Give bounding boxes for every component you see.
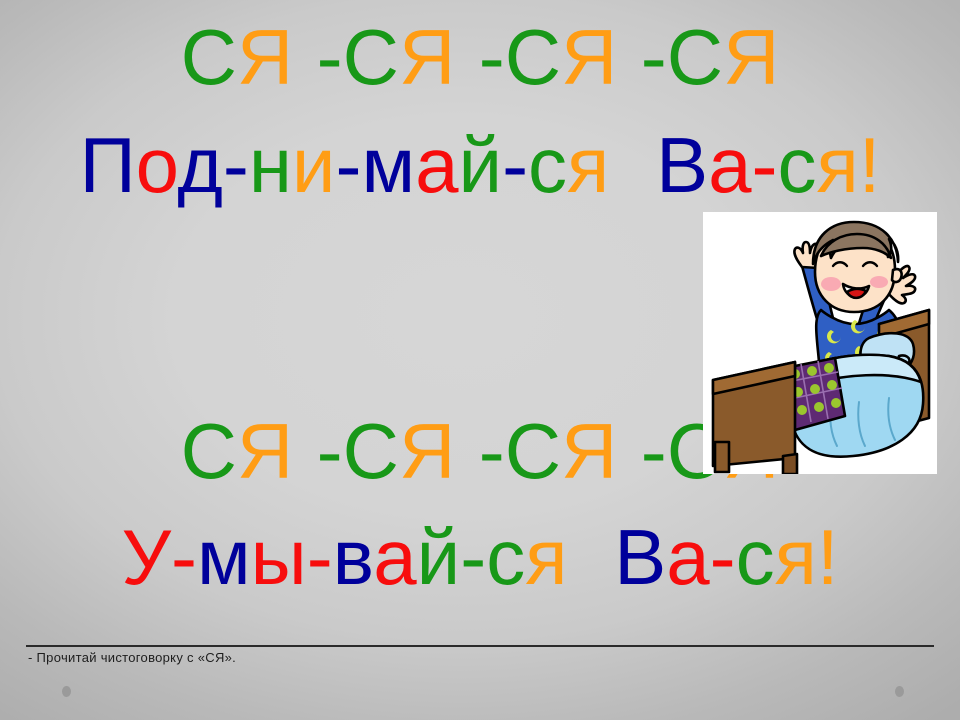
colored-glyph: ! (817, 513, 839, 601)
colored-glyph: Я (237, 407, 293, 495)
colored-glyph: й (458, 121, 502, 209)
colored-glyph: С (343, 13, 399, 101)
phrase-line-umyvaysya-vasya: У-мы-вай-сяВа-ся! (0, 518, 960, 596)
colored-glyph: - (317, 407, 343, 495)
colored-glyph: - (752, 121, 778, 209)
colored-glyph: - (307, 513, 333, 601)
boy-in-bed-illustration (703, 212, 937, 474)
colored-glyph: о (136, 121, 178, 209)
colored-glyph: С (181, 13, 237, 101)
colored-glyph: - (479, 13, 505, 101)
colored-glyph: - (317, 13, 343, 101)
colored-glyph: Я (723, 13, 779, 101)
colored-glyph: ! (859, 121, 881, 209)
colored-glyph: Я (561, 407, 617, 495)
colored-glyph: м (361, 121, 415, 209)
colored-glyph: а (373, 513, 416, 601)
decorative-dot-left (62, 686, 71, 697)
slide-canvas: СЯ-СЯ-СЯ-СЯ Под-ни-май-сяВа-ся! СЯ-СЯ-СЯ… (0, 0, 960, 720)
colored-glyph: С (505, 407, 561, 495)
colored-glyph: С (667, 13, 723, 101)
colored-glyph: У (121, 513, 171, 601)
colored-glyph: - (641, 13, 667, 101)
colored-glyph: - (641, 407, 667, 495)
chant-line-1: СЯ-СЯ-СЯ-СЯ (0, 18, 960, 96)
decorative-dot-right (895, 686, 904, 697)
colored-glyph: С (343, 407, 399, 495)
colored-glyph: - (460, 513, 486, 601)
colored-glyph: - (335, 121, 361, 209)
colored-glyph: м (197, 513, 251, 601)
colored-glyph: с (486, 513, 525, 601)
colored-glyph: я (525, 513, 567, 601)
colored-glyph: - (223, 121, 249, 209)
colored-glyph: я (775, 513, 817, 601)
colored-glyph: д (177, 121, 223, 209)
footer-divider (26, 645, 934, 647)
colored-glyph: Я (399, 407, 455, 495)
colored-glyph: и (292, 121, 336, 209)
colored-glyph: с (736, 513, 775, 601)
colored-glyph: а (666, 513, 709, 601)
colored-glyph: П (80, 121, 136, 209)
colored-glyph: Я (561, 13, 617, 101)
colored-glyph: - (710, 513, 736, 601)
colored-glyph: я (567, 121, 609, 209)
colored-glyph: В (614, 513, 666, 601)
colored-glyph: я (816, 121, 858, 209)
colored-glyph: й (417, 513, 461, 601)
colored-glyph: - (171, 513, 197, 601)
phrase-line-podnimaysya-vasya: Под-ни-май-сяВа-ся! (0, 126, 960, 204)
footer-instruction: - Прочитай чистоговорку с «СЯ». (28, 650, 236, 665)
colored-glyph: ы (251, 513, 307, 601)
colored-glyph: С (181, 407, 237, 495)
colored-glyph: а (415, 121, 458, 209)
colored-glyph: - (479, 407, 505, 495)
colored-glyph: Я (237, 13, 293, 101)
colored-glyph: В (656, 121, 708, 209)
colored-glyph: Я (399, 13, 455, 101)
colored-glyph: с (777, 121, 816, 209)
colored-glyph: С (505, 13, 561, 101)
colored-glyph: - (502, 121, 528, 209)
colored-glyph: с (528, 121, 567, 209)
colored-glyph: в (333, 513, 374, 601)
clipart-boy-in-bed (703, 212, 937, 474)
colored-glyph: а (708, 121, 751, 209)
colored-glyph: н (249, 121, 292, 209)
